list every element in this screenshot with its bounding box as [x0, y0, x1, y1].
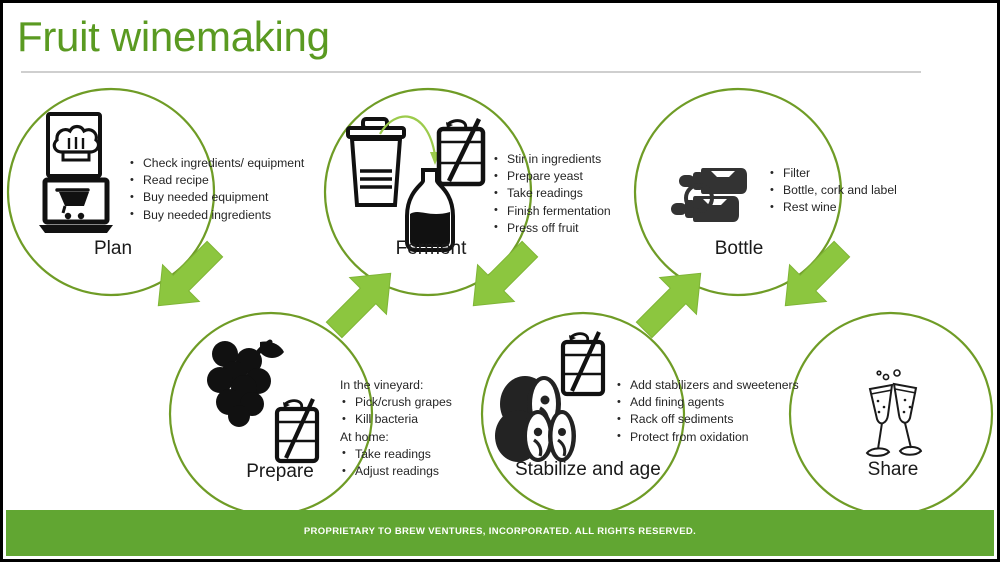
champagne-toast-icon — [867, 370, 921, 456]
bullet-item: Read recipe — [128, 172, 304, 189]
bullet-item: Filter — [768, 165, 897, 182]
step-label-plan: Plan — [81, 238, 145, 260]
bullet-header: At home: — [340, 429, 452, 446]
bullet-item: Take readings — [340, 446, 452, 463]
step-label-ferment: Ferment — [389, 238, 473, 260]
bullet-item: Kill bacteria — [340, 411, 452, 428]
fermentation-bucket-icon — [348, 119, 404, 205]
step-bullets-stabilize-and-age: Add stabilizers and sweeteners Add finin… — [615, 377, 799, 446]
bullet-item: Pick/crush grapes — [340, 394, 452, 411]
bullet-item: Bottle, cork and label — [768, 182, 897, 199]
laptop-shopping-cart-icon — [39, 180, 113, 233]
measuring-glass-icon — [563, 332, 603, 394]
bullet-item: Take readings — [492, 185, 611, 202]
arrow-plan-to-prepare — [140, 231, 233, 324]
bullet-item: Check ingredients/ equipment — [128, 155, 304, 172]
measuring-glass-icon — [277, 399, 317, 461]
step-label-prepare: Prepare — [237, 461, 323, 483]
bullet-item: Adjust readings — [340, 463, 452, 480]
step-bullets-ferment: Stir in ingredients Prepare yeast Take r… — [492, 151, 611, 237]
recipe-book-icon — [48, 114, 100, 179]
bullet-item: Add stabilizers and sweeteners — [615, 377, 799, 394]
diagram-artwork — [3, 3, 1000, 562]
arrow-bottle-to-share — [767, 231, 860, 324]
arrow-stabilize-to-bottle — [626, 255, 719, 348]
bullet-item: Rest wine — [768, 199, 897, 216]
bullet-item: Stir in ingredients — [492, 151, 611, 168]
bullet-item: Prepare yeast — [492, 168, 611, 185]
bullet-item: Add fining agents — [615, 394, 799, 411]
circle-share — [790, 313, 992, 515]
step-bullets-bottle: Filter Bottle, cork and label Rest wine — [768, 165, 897, 217]
step-bullets-prepare: In the vineyard: Pick/crush grapes Kill … — [340, 377, 452, 480]
slide-canvas: Fruit winemaking — [0, 0, 1000, 562]
bullet-item: Protect from oxidation — [615, 429, 799, 446]
measuring-glass-icon — [439, 119, 483, 184]
bullet-item: Buy needed equipment — [128, 189, 304, 206]
arrow-prepare-to-ferment — [316, 255, 409, 348]
grapes-icon — [207, 341, 284, 427]
footer-copyright-text: PROPRIETARY TO BREW VENTURES, INCORPORAT… — [6, 526, 994, 537]
bullet-header: In the vineyard: — [340, 377, 452, 394]
wine-bottles-icon — [671, 168, 747, 222]
footer-bar: PROPRIETARY TO BREW VENTURES, INCORPORAT… — [6, 510, 994, 556]
bullet-item: Rack off sediments — [615, 411, 799, 428]
step-label-stabilize-and-age: Stabilize and age — [515, 459, 655, 481]
step-label-share: Share — [861, 459, 925, 481]
bullet-item: Finish fermentation — [492, 203, 611, 220]
bullet-item: Buy needed ingredients — [128, 207, 304, 224]
step-bullets-plan: Check ingredients/ equipment Read recipe… — [128, 155, 304, 224]
bullet-item: Press off fruit — [492, 220, 611, 237]
step-label-bottle: Bottle — [705, 238, 773, 260]
